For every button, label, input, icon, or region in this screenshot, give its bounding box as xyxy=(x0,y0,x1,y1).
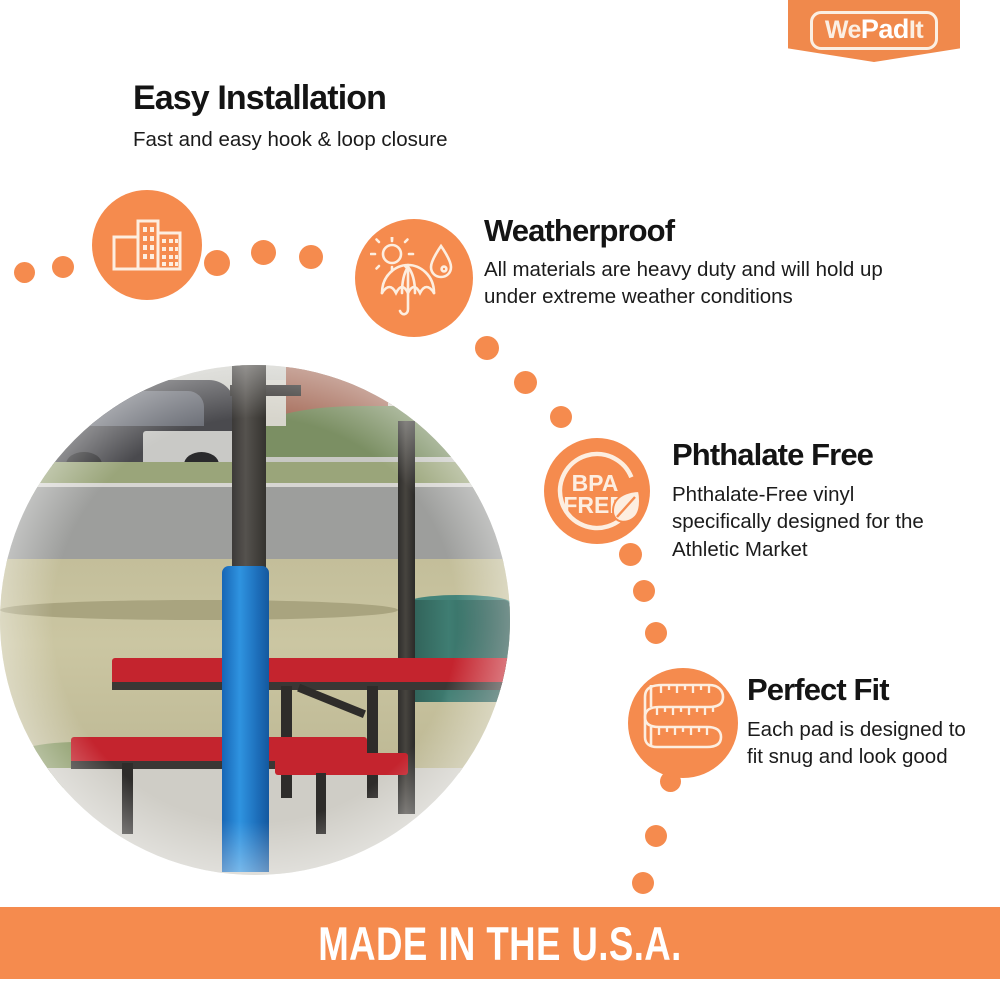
feature-title-phthalate-free: Phthalate Free xyxy=(672,437,873,473)
trail-dot xyxy=(299,245,323,269)
trail-dot xyxy=(619,543,642,566)
trail-dot xyxy=(475,336,499,360)
trail-dot xyxy=(14,262,35,283)
feature-icon-easy-installation xyxy=(92,190,202,300)
feature-icon-phthalate-free: BPA FREE xyxy=(544,438,650,544)
feature-description-perfect-fit: Each pad is designed to fit snug and loo… xyxy=(747,716,977,771)
feature-title-easy-installation: Easy Installation xyxy=(133,79,386,118)
feature-title-weatherproof: Weatherproof xyxy=(484,213,674,249)
feature-icon-perfect-fit xyxy=(628,668,738,778)
feature-description-phthalate-free: Phthalate-Free vinyl specifically design… xyxy=(672,481,942,563)
feature-description-easy-installation: Fast and easy hook & loop closure xyxy=(133,126,553,153)
feature-title-perfect-fit: Perfect Fit xyxy=(747,672,889,708)
measuring-tape-icon xyxy=(637,679,729,767)
trail-dot xyxy=(52,256,74,278)
logo-text-it: It xyxy=(909,16,923,44)
trail-dot xyxy=(633,580,655,602)
trail-dot xyxy=(251,240,276,265)
bpa-free-leaf-icon: BPA FREE xyxy=(547,441,647,541)
infographic-page: WePadIt Easy Installation Fast and easy … xyxy=(0,0,1000,987)
sun-umbrella-raindrop-icon xyxy=(370,237,458,319)
logo-text: WePadIt xyxy=(825,16,923,44)
product-photo xyxy=(0,365,510,875)
brand-logo-banner: WePadIt xyxy=(788,0,960,62)
made-in-usa-text: MADE IN THE U.S.A. xyxy=(318,916,681,971)
trail-dot xyxy=(550,406,572,428)
logo-text-pad: Pad xyxy=(861,14,909,44)
logo-outline-box: WePadIt xyxy=(810,11,938,50)
feature-description-weatherproof: All materials are heavy duty and will ho… xyxy=(484,256,904,311)
trail-dot xyxy=(645,825,667,847)
product-photo-scene xyxy=(0,365,510,875)
trail-dot xyxy=(514,371,537,394)
trail-dot xyxy=(645,622,667,644)
feature-icon-weatherproof xyxy=(355,219,473,337)
trail-dot xyxy=(632,872,654,894)
buildings-icon xyxy=(111,215,183,275)
trail-dot xyxy=(204,250,230,276)
made-in-usa-banner: MADE IN THE U.S.A. xyxy=(0,907,1000,979)
logo-text-we: We xyxy=(825,16,861,44)
